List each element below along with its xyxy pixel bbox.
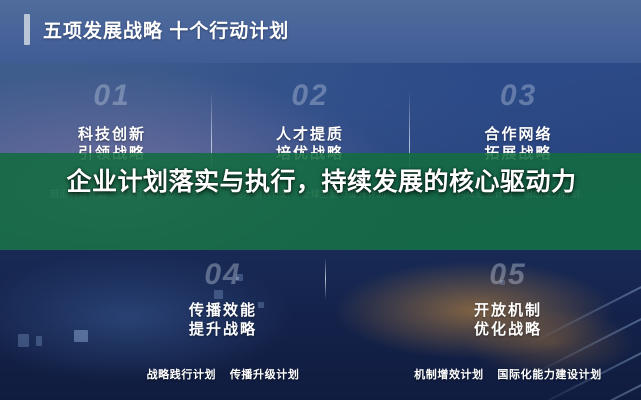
slide-canvas: 五项发展战略 十个行动计划 01 科技创新 引领战略 前沿科技计划 交叉引领计划… [0, 0, 641, 400]
plan-item: 机制增效计划 [414, 369, 484, 381]
strategy-card-05[interactable]: 05 开放机制 优化战略 机制增效计划 国际化能力建设计划 [372, 250, 641, 340]
strategy-title-line2: 优化战略 [372, 321, 641, 340]
strategy-title-line1: 科技创新 [78, 126, 146, 143]
strategy-title-line1: 开放机制 [474, 302, 542, 319]
strategy-card-03[interactable]: 03 合作网络 拓展战略 网络汇通计划 思想聚力计划 [410, 63, 627, 164]
strategy-title-line1: 人才提质 [276, 126, 344, 143]
strategy-card-01[interactable]: 01 科技创新 引领战略 前沿科技计划 交叉引领计划 [14, 63, 210, 164]
slide-header-content: 五项发展战略 十个行动计划 [24, 14, 289, 45]
overlay-headline: 企业计划落实与执行，持续发展的核心驱动力 [44, 166, 599, 199]
strategy-card-02[interactable]: 02 人才提质 培优战略 英才引育计划 全球塑造力提升计划 [212, 63, 408, 164]
strategy-plan-list: 战略践行计划 传播升级计划 [78, 366, 368, 382]
strategy-title-line1: 合作网络 [484, 126, 552, 143]
slide-top-section: 五项发展战略 十个行动计划 01 科技创新 引领战略 前沿科技计划 交叉引领计划… [0, 0, 641, 250]
strategy-number: 05 [372, 260, 641, 290]
plan-item: 传播升级计划 [230, 369, 300, 381]
slide-header-bar: 五项发展战略 十个行动计划 [0, 0, 641, 63]
strategy-number: 02 [212, 81, 408, 111]
slide-bottom-section: 04 传播效能 提升战略 战略践行计划 传播升级计划 05 开放机制 优化战略 … [0, 250, 641, 400]
column-divider [325, 258, 326, 300]
accent-bar-icon [24, 14, 30, 45]
strategy-title-line2: 提升战略 [78, 321, 368, 340]
strategy-title-line1: 传播效能 [189, 302, 257, 319]
strategy-plan-list: 机制增效计划 国际化能力建设计划 [372, 366, 641, 382]
strategy-number: 03 [410, 81, 627, 111]
strategy-title: 传播效能 提升战略 [78, 302, 368, 340]
strategy-number: 01 [14, 81, 210, 111]
strategy-title: 开放机制 优化战略 [372, 302, 641, 340]
page-title: 五项发展战略 十个行动计划 [43, 16, 289, 43]
plan-item: 战略践行计划 [147, 369, 217, 381]
plan-item: 国际化能力建设计划 [497, 369, 601, 381]
strategy-columns-bottom: 04 传播效能 提升战略 战略践行计划 传播升级计划 05 开放机制 优化战略 … [0, 250, 641, 400]
